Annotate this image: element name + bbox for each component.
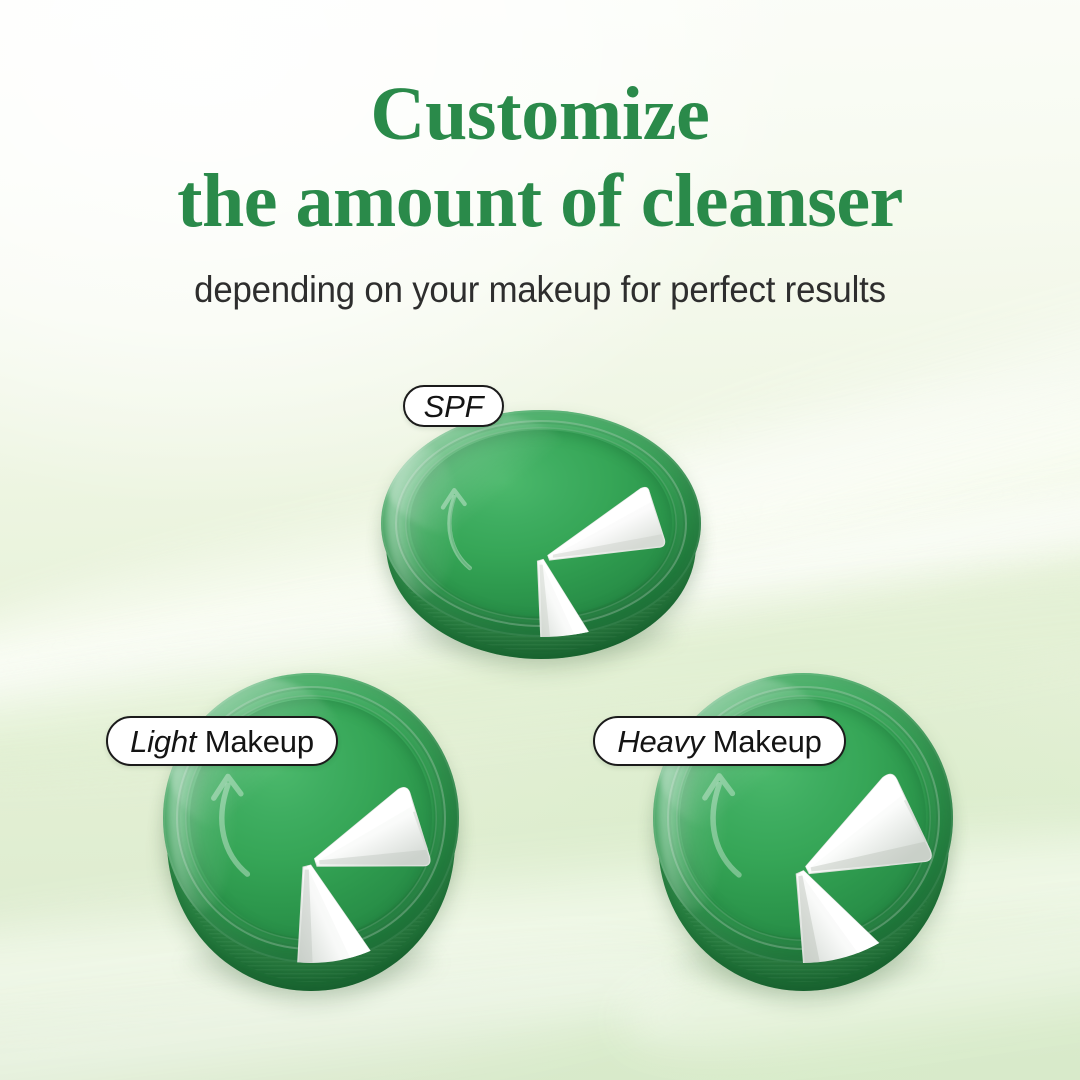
promo-canvas: Customize the amount of cleanser dependi… (0, 0, 1080, 1080)
jar-label-light-makeup[interactable]: Light Makeup (106, 716, 338, 766)
subtitle: depending on your makeup for perfect res… (32, 269, 1047, 311)
jar-label-heavy-makeup[interactable]: Heavy Makeup (593, 716, 846, 766)
headline-line-1: Customize (0, 76, 1080, 152)
label-rest: Makeup (704, 724, 822, 759)
jar-spf[interactable] (381, 410, 701, 654)
label-emphasis: SPF (424, 389, 484, 424)
jar-label-spf[interactable]: SPF (403, 385, 504, 427)
jar-lid (381, 410, 701, 637)
headline-line-2: the amount of cleanser (0, 163, 1080, 239)
label-emphasis: Heavy (617, 724, 704, 759)
label-rest: Makeup (196, 724, 314, 759)
label-emphasis: Light (130, 724, 196, 759)
cleanser-wedges-spf (381, 410, 701, 637)
